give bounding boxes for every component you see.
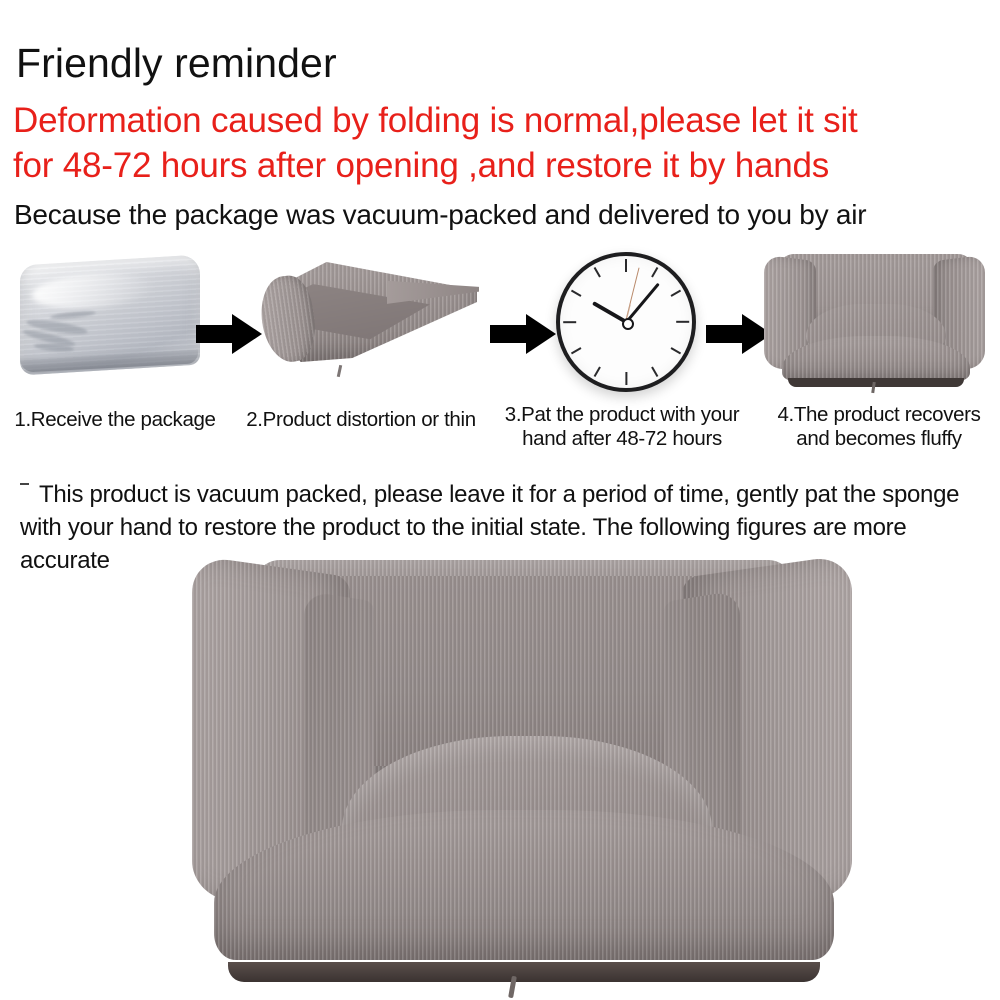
step-3-caption-line-1: 3.Pat the product with your [494, 403, 750, 427]
clock-tick [563, 321, 576, 323]
clock-tick [676, 321, 689, 323]
step-2-caption: 2.Product distortion or thin [232, 408, 490, 432]
flattened-pet-bed-icon [262, 254, 477, 379]
clock-tick [625, 259, 627, 272]
step-2 [262, 248, 492, 398]
infographic-page: Friendly reminder Deformation caused by … [0, 0, 1000, 1000]
page-title: Friendly reminder [16, 40, 337, 86]
hero-base-trim [228, 962, 820, 982]
note-tick-mark [20, 483, 29, 492]
warning-line-1: Deformation caused by folding is normal,… [13, 98, 988, 143]
step-4-caption-line-1: 4.The product recovers [762, 403, 996, 427]
step-3 [556, 248, 706, 398]
subtitle: Because the package was vacuum-packed an… [14, 198, 866, 232]
clock-tick [625, 372, 627, 385]
step-4 [762, 248, 992, 398]
note-line-2: with your hand to restore the product to… [20, 511, 975, 544]
step-4-caption: 4.The product recovers and becomes fluff… [762, 403, 996, 451]
step-3-caption-line-2: hand after 48-72 hours [494, 427, 750, 451]
step-4-caption-line-2: and becomes fluffy [762, 427, 996, 451]
hero-product-image [192, 560, 852, 990]
warning-text: Deformation caused by folding is normal,… [13, 98, 988, 188]
steps-row: 1.Receive the package 2.Product distorti… [0, 248, 1000, 453]
arrow-right-icon-2 [490, 314, 556, 354]
vacuum-packed-bag-icon [20, 260, 200, 370]
note-line-1: This product is vacuum packed, please le… [39, 481, 959, 508]
step-3-caption: 3.Pat the product with your hand after 4… [494, 403, 750, 451]
wall-clock-icon [556, 252, 696, 392]
recovered-pet-bed-icon [762, 254, 987, 389]
arrow-right-icon-1 [196, 314, 262, 354]
step-1 [14, 248, 204, 398]
step-1-caption: 1.Receive the package [4, 408, 226, 432]
warning-line-2: for 48-72 hours after opening ,and resto… [13, 143, 988, 188]
